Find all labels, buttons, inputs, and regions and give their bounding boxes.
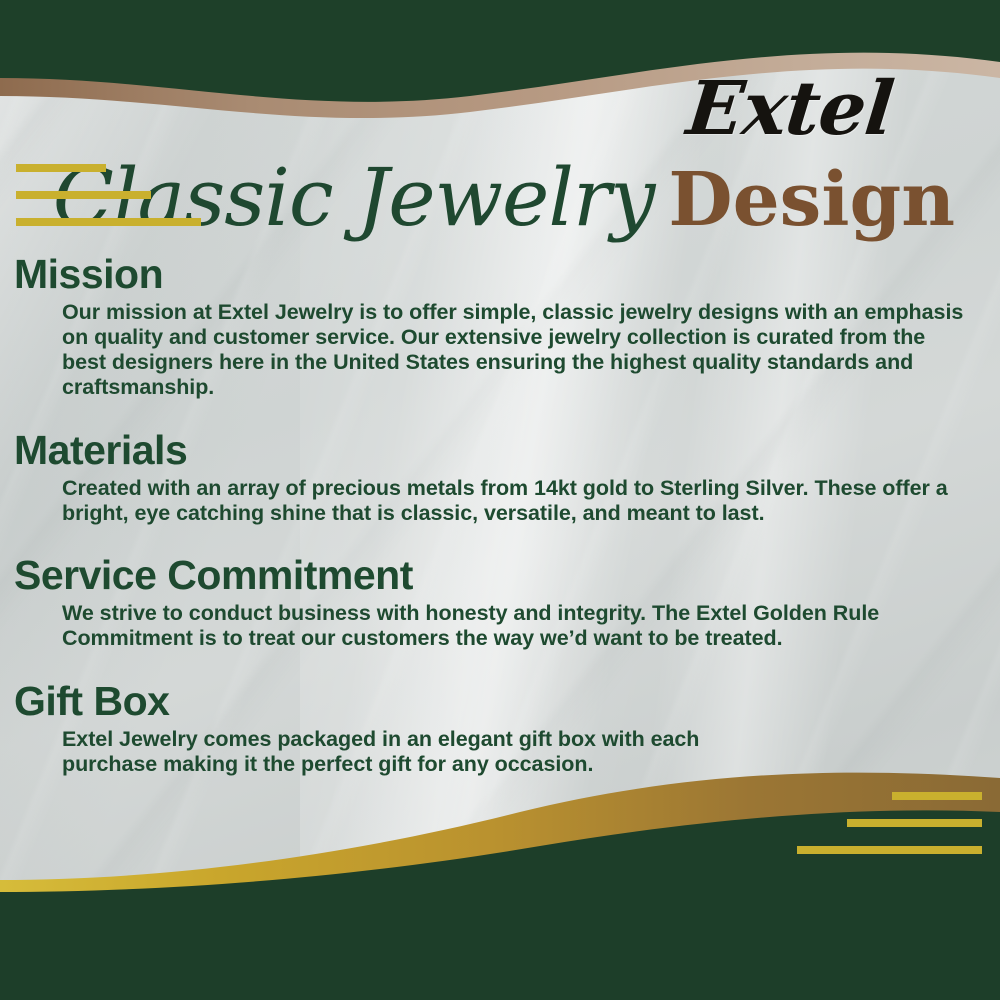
gold-rule-short	[16, 164, 106, 172]
gold-rule-medium	[16, 191, 151, 199]
section-heading-service-commitment: Service Commitment	[14, 553, 1000, 599]
gold-rule-long	[797, 846, 982, 854]
section-body-materials: Created with an array of precious metals…	[62, 476, 966, 526]
brand-script-logo: Extel	[596, 72, 984, 146]
section-heading-materials: Materials	[14, 428, 1000, 474]
section-body-mission: Our mission at Extel Jewelry is to offer…	[62, 300, 966, 400]
section-body-service-commitment: We strive to conduct business with hones…	[62, 601, 966, 651]
poster-canvas: Extel Classic JewelryDesign Mission Our …	[0, 0, 1000, 1000]
section-mission: Mission Our mission at Extel Jewelry is …	[0, 252, 1000, 400]
section-heading-gift-box: Gift Box	[14, 679, 1000, 725]
title-secondary: Design	[668, 157, 955, 243]
gold-rule-short	[892, 792, 982, 800]
section-gift-box: Gift Box Extel Jewelry comes packaged in…	[0, 679, 1000, 777]
gold-rules-bottom-right	[797, 792, 982, 854]
gold-rule-medium	[847, 819, 982, 827]
section-body-gift-box: Extel Jewelry comes packaged in an elega…	[62, 727, 760, 777]
section-materials: Materials Created with an array of preci…	[0, 428, 1000, 526]
section-service-commitment: Service Commitment We strive to conduct …	[0, 553, 1000, 651]
gold-rule-long	[16, 218, 201, 226]
content-sections: Mission Our mission at Extel Jewelry is …	[0, 252, 1000, 783]
section-heading-mission: Mission	[14, 252, 1000, 298]
gold-rules-top-left	[16, 164, 201, 226]
